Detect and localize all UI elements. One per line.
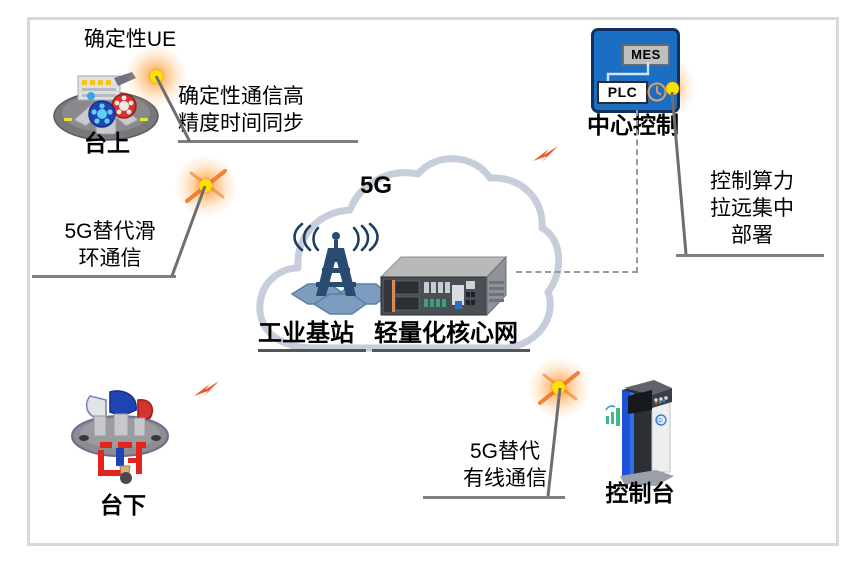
base-station-underline: [258, 349, 366, 352]
rack-server-icon: [381, 255, 506, 317]
control-console-kiosk-icon: 中: [600, 376, 680, 488]
core-network-underline: [372, 349, 530, 352]
dashed-link-horizontal: [516, 271, 638, 273]
dashed-link-vertical: [636, 110, 638, 273]
turntable-top-label: 台上: [62, 130, 152, 157]
core-network-label: 轻量化核心网: [374, 320, 518, 348]
antenna-tower-icon: [282, 222, 390, 314]
turntable-bottom-label: 台下: [78, 492, 168, 519]
base-station-label: 工业基站: [258, 320, 354, 348]
callout-compute-line2: 拉远集中: [692, 197, 812, 222]
leader-line-deterministic: [150, 70, 206, 144]
network-architecture-diagram: 5G: [0, 0, 865, 561]
leader-line-compute: [666, 88, 706, 258]
leader-line-wired: [540, 384, 572, 500]
rotary-machine-bottom-icon: [70, 388, 170, 484]
callout-compute-line1: 控制算力: [692, 170, 812, 195]
callout-compute-line3: 部署: [692, 224, 812, 249]
plc-box: PLC: [597, 81, 648, 104]
callout-deterministic-ue: 确定性UE: [55, 28, 205, 53]
svg-text:中: 中: [657, 417, 663, 425]
gear-icon: [646, 81, 668, 103]
callout-slipring-underline: [32, 275, 176, 278]
console-label: 控制台: [586, 480, 694, 507]
lightning-bolt-icon-cloud-center: [531, 143, 561, 169]
lightning-bolt-icon-cloud-bottom: [192, 378, 222, 404]
cloud-title-5g: 5G: [336, 172, 416, 200]
leader-line-slipring: [166, 182, 216, 278]
